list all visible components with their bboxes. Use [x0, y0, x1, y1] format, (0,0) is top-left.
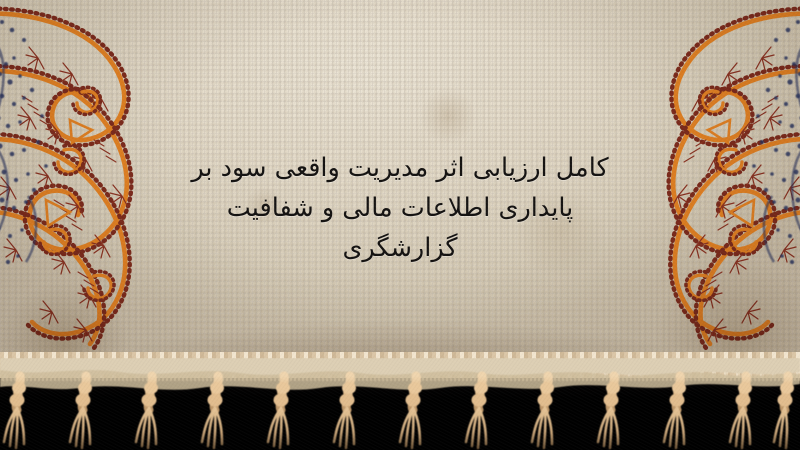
slide-canvas: کامل ارزیابی اثر مدیریت واقعی سود بر پای…	[0, 0, 800, 450]
knotted-tassel-fringe	[0, 358, 800, 450]
title-line-3: گزارشگری	[0, 228, 800, 268]
title-line-1: کامل ارزیابی اثر مدیریت واقعی سود بر	[0, 148, 800, 188]
title-line-2: پایداری اطلاعات مالی و شفافیت	[0, 188, 800, 228]
page-title: کامل ارزیابی اثر مدیریت واقعی سود بر پای…	[0, 148, 800, 268]
